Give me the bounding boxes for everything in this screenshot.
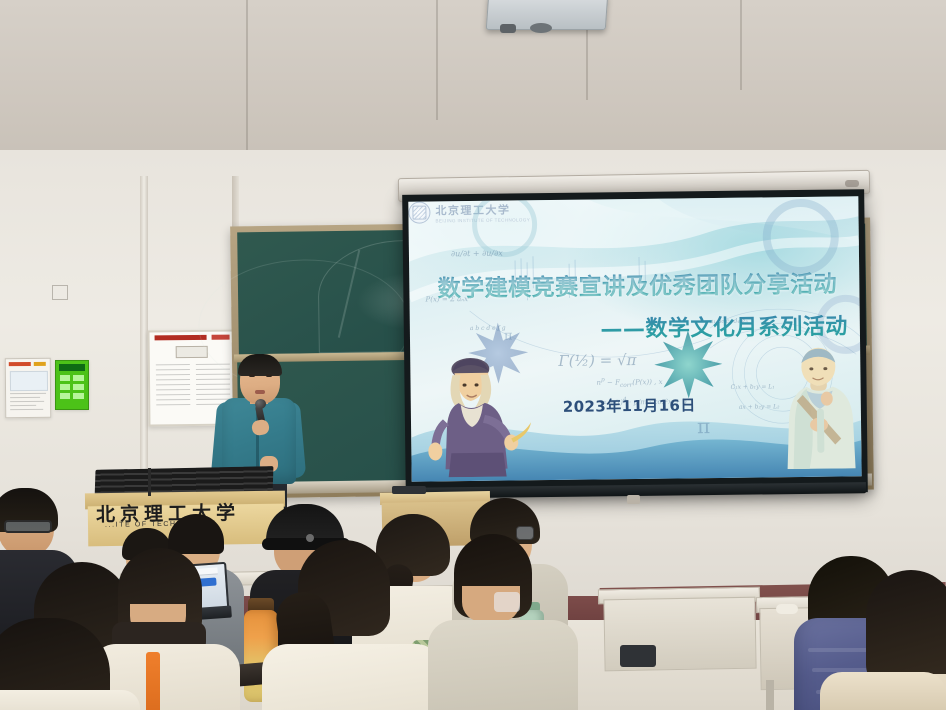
figure-western-mathematician bbox=[422, 352, 532, 477]
slide-formula: ∂u/∂t + ∂u/∂x bbox=[451, 249, 503, 259]
cap-button-icon bbox=[306, 534, 314, 542]
poster-evacuation-sign bbox=[55, 360, 89, 410]
projected-slide: ∂u/∂t + ∂u/∂x P(x) = Σ aₙxⁿ Γ(½) = √π np… bbox=[408, 196, 861, 481]
slide-date: 2023年11月16日 bbox=[563, 394, 696, 417]
slide-title-main: 数学建模竞赛宣讲及优秀团队分享活动 bbox=[431, 264, 843, 303]
figure-chinese-scholar bbox=[776, 346, 862, 469]
slide-formula: C₁x + b₁y = L₁ bbox=[731, 383, 775, 391]
speaker-eye bbox=[266, 374, 272, 377]
student-cream-sweater bbox=[820, 672, 946, 710]
student-front-shoulders bbox=[0, 690, 140, 710]
slide-pi-symbol: π bbox=[697, 414, 710, 438]
wall-seam bbox=[740, 0, 742, 90]
desk-object-dark bbox=[392, 486, 426, 494]
slide-title-sub: ——数学文化月系列活动 bbox=[470, 308, 848, 345]
eyeglasses-icon bbox=[4, 520, 52, 533]
classroom-photo: ∂u/∂t + ∂u/∂x P(x) = Σ aₙxⁿ Γ(½) = √π np… bbox=[0, 0, 946, 710]
orange-lanyard bbox=[146, 652, 160, 710]
slide-formula-gamma: Γ(½) = √π bbox=[558, 351, 636, 370]
projector-dial-icon bbox=[530, 23, 552, 33]
projection-screen-handle[interactable] bbox=[627, 495, 640, 504]
speaker-eye bbox=[249, 374, 255, 377]
wall-outlet[interactable] bbox=[52, 285, 68, 300]
speaker-mouth bbox=[255, 390, 265, 394]
under-desk-bag bbox=[620, 645, 656, 667]
poster-safety-notice bbox=[5, 358, 52, 418]
desk-item-white bbox=[776, 604, 798, 614]
slide-formula: ax + b₂y = L₂ bbox=[739, 403, 780, 410]
screen-casing-endcap bbox=[845, 180, 859, 187]
podium-mic-stand bbox=[148, 468, 151, 496]
desk-leg bbox=[766, 680, 774, 710]
projector-lens-icon bbox=[500, 24, 516, 33]
face-mask bbox=[494, 592, 520, 612]
slide-formula: np − Fcorr(P(x)) , x bbox=[596, 377, 662, 390]
wall-seam bbox=[436, 0, 438, 120]
wall-seam bbox=[246, 0, 248, 160]
eyeglasses-icon bbox=[516, 526, 534, 540]
